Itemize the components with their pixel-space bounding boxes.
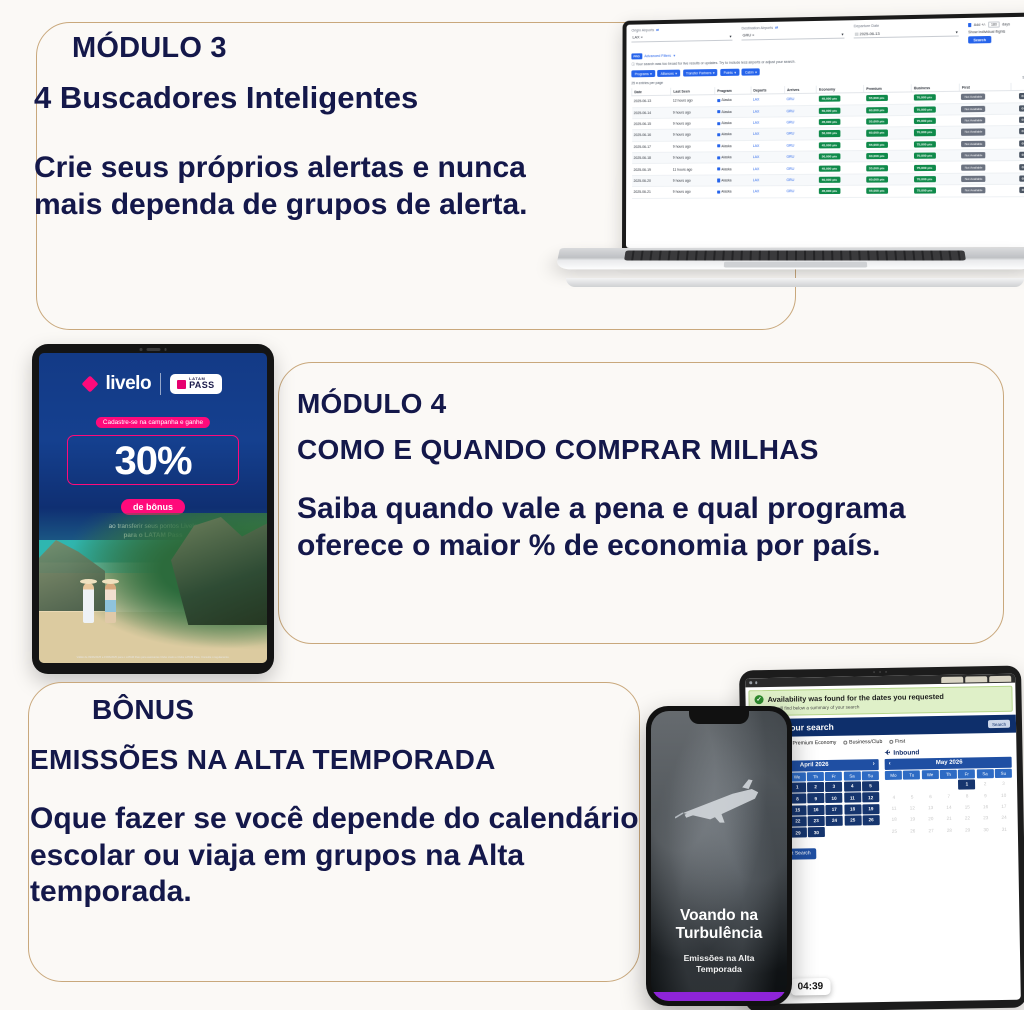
inbound-day-grid: MoTuWeThFrSaSu12345678910111213141516171… xyxy=(885,769,1013,837)
phone-mockup: Voando na Turbulência Emissões na Alta T… xyxy=(646,706,792,1006)
livelo-tablet-mockup: livelo LATAM PASS Cadastre-se na campanh… xyxy=(32,344,274,674)
row-departs: LAX xyxy=(751,117,785,129)
row-departs-value[interactable]: LAX xyxy=(753,121,760,125)
row-last-seen: 9 hours ago xyxy=(671,186,715,198)
module-3-kicker: MÓDULO 3 xyxy=(72,32,227,65)
calendar-day-available[interactable]: 9 xyxy=(807,793,824,803)
origin-airports-value: LAX × xyxy=(632,35,642,40)
row-date: 2025-06-18 xyxy=(632,152,671,164)
row-date: 2025-06-17 xyxy=(632,141,671,153)
calendar-day-unavailable[interactable]: 30 xyxy=(977,824,994,834)
row-date: 2025-06-14 xyxy=(632,107,671,119)
livelo-offer-box: 30% xyxy=(67,435,239,485)
calendar-day-unavailable[interactable]: 9 xyxy=(977,790,994,800)
row-departs: LAX xyxy=(751,186,785,198)
row-arrives: GRU xyxy=(784,139,816,151)
module-4-kicker: MÓDULO 4 xyxy=(297,388,446,420)
row-program: Alaska xyxy=(715,117,751,129)
row-business: 70,000 pts xyxy=(911,103,959,115)
cabin-option-label: Premium Economy xyxy=(792,740,836,747)
row-last-seen: 11 hours ago xyxy=(671,163,715,175)
calendar-dow: Fr xyxy=(958,769,975,778)
swap-icon[interactable]: ⇄ xyxy=(656,28,659,32)
cabin-option-premium-economy[interactable]: Premium Economy xyxy=(787,740,837,747)
airline-logo-icon xyxy=(717,99,720,102)
calendar-day-available[interactable]: 16 xyxy=(807,805,824,815)
reel-subtitle-line2: Temporada xyxy=(696,964,742,974)
calendar-day-unavailable[interactable]: 21 xyxy=(941,814,958,824)
livelo-diamond-icon xyxy=(82,376,99,393)
laptop-keyboard xyxy=(624,250,966,260)
calendar-day-unavailable[interactable]: 11 xyxy=(885,803,902,813)
calendar-day-available[interactable]: 29 xyxy=(789,828,806,838)
row-premium-value: 60,000 pts xyxy=(866,176,888,182)
row-first: Not Available xyxy=(959,161,1011,173)
per-page-label: entries per page xyxy=(639,81,663,85)
row-last-seen: 9 hours ago xyxy=(671,118,715,130)
airline-logo-icon xyxy=(717,133,720,136)
row-economy: 50,000 pts xyxy=(817,127,864,139)
row-arrives: GRU xyxy=(784,105,816,117)
gear-icon[interactable]: ⚙ xyxy=(1019,105,1024,111)
calendar-day-unavailable[interactable]: 19 xyxy=(904,814,921,824)
cabin-option-first[interactable]: First xyxy=(889,739,905,745)
chip-label: Alliances xyxy=(661,72,674,76)
program-name: Alaska xyxy=(721,144,731,148)
row-last-seen: 9 hours ago xyxy=(671,140,715,152)
calendar-day-available[interactable]: 26 xyxy=(862,815,879,825)
calendar-day-unavailable[interactable]: 25 xyxy=(886,826,903,836)
row-arrives-value[interactable]: GRU xyxy=(786,132,794,136)
row-actions[interactable]: ⚙ xyxy=(1011,137,1024,149)
beach-scene-image: Válido de 09/06/2025 a 15/06/2025 para o… xyxy=(39,513,267,663)
row-program: Alaska xyxy=(715,129,751,141)
row-last-seen: 12 hours ago xyxy=(671,95,715,107)
gear-icon[interactable]: ⚙ xyxy=(1019,128,1024,134)
row-departs-value[interactable]: LAX xyxy=(753,167,760,171)
latam-pass-text: PASS xyxy=(189,381,214,390)
chip-label: Transfer Partners xyxy=(686,71,712,75)
flight-search-app: Origin Airports ⇄ LAX × ▾ Destination Ai… xyxy=(626,17,1024,248)
row-economy: 45,000 pts xyxy=(817,185,864,197)
row-first: Not Available xyxy=(960,173,1012,185)
calendar-day-unavailable[interactable]: 28 xyxy=(941,825,958,835)
filter-chip-alliances[interactable]: Alliances▾ xyxy=(658,70,681,78)
laptop-screen: Origin Airports ⇄ LAX × ▾ Destination Ai… xyxy=(622,12,1024,252)
row-economy-value: 45,000 pts xyxy=(819,96,841,103)
gear-icon[interactable]: ⚙ xyxy=(1019,93,1024,99)
row-departs-value[interactable]: LAX xyxy=(753,155,760,159)
row-program: Alaska xyxy=(715,106,751,118)
row-business-value: 75,000 pts xyxy=(914,141,936,148)
row-business: 75,000 pts xyxy=(911,138,959,150)
gear-icon[interactable]: ⚙ xyxy=(1019,117,1024,123)
calendar-day-unavailable[interactable]: 16 xyxy=(977,802,994,812)
destination-airports-value: GRU × xyxy=(743,33,755,38)
bonus-title: EMISSÕES NA ALTA TEMPORADA xyxy=(30,744,496,776)
add-days-label: Add +/- xyxy=(974,23,986,27)
row-arrives-value[interactable]: GRU xyxy=(786,166,794,170)
calendar-day-available[interactable]: 1 xyxy=(958,779,975,789)
program-name: Alaska xyxy=(721,133,731,137)
row-last-seen: 9 hours ago xyxy=(671,129,715,141)
row-actions[interactable]: ⚙ xyxy=(1011,126,1024,138)
calendar-day-available[interactable]: 11 xyxy=(844,793,861,803)
calendar-day-unavailable[interactable]: 13 xyxy=(922,803,939,813)
row-business: 75,000 pts xyxy=(911,161,959,173)
row-arrives: GRU xyxy=(784,186,816,198)
row-last-seen: 9 hours ago xyxy=(671,175,715,187)
airplane-illustration xyxy=(675,773,771,837)
row-economy-value: 45,000 pts xyxy=(819,188,841,194)
calendar-day-unavailable[interactable]: 4 xyxy=(885,792,902,802)
calendar-dow: Tu xyxy=(903,770,920,779)
row-premium: 55,000 pts xyxy=(864,185,912,197)
calendar-day-available[interactable]: 19 xyxy=(862,804,879,814)
row-first-value: Not Available xyxy=(962,141,986,148)
row-premium: 60,000 pts xyxy=(864,104,912,116)
browser-tab[interactable] xyxy=(941,676,963,682)
calendar-day-available[interactable]: 10 xyxy=(825,793,842,803)
latam-mark-icon xyxy=(177,380,186,389)
row-business-value: 70,000 pts xyxy=(913,106,935,113)
row-first: Not Available xyxy=(959,102,1011,114)
calendar-day-unavailable[interactable]: 31 xyxy=(996,824,1013,834)
program-name: Alaska xyxy=(721,190,731,194)
airline-logo-icon xyxy=(717,156,720,159)
calendar-day-available[interactable]: 23 xyxy=(808,816,825,826)
chevron-down-icon[interactable]: ▾ xyxy=(841,31,843,36)
livelo-brand-name: livelo xyxy=(105,373,151,395)
row-date: 2025-06-16 xyxy=(632,130,671,142)
row-departs: LAX xyxy=(751,128,785,140)
calendar-dow: Mo xyxy=(885,771,902,780)
filter-chip-cabin[interactable]: Cabin▾ xyxy=(742,69,760,77)
row-first: Not Available xyxy=(959,91,1011,103)
row-first: Not Available xyxy=(959,114,1011,126)
calendar-day-unavailable[interactable]: 3 xyxy=(995,778,1012,788)
row-premium-value: 55,000 pts xyxy=(866,141,888,148)
calendar-day-unavailable[interactable]: 10 xyxy=(995,790,1012,800)
airline-logo-icon xyxy=(717,145,720,148)
calendar-blank xyxy=(903,780,920,790)
row-date: 2025-06-20 xyxy=(632,175,671,187)
row-departs-value[interactable]: LAX xyxy=(753,178,760,182)
browser-tab[interactable] xyxy=(965,676,987,682)
gear-icon[interactable]: ⚙ xyxy=(1019,164,1024,170)
row-first: Not Available xyxy=(959,149,1011,161)
calendar-dow: Fr xyxy=(825,772,842,781)
entries-per-page[interactable]: 25 ▾ entries per page xyxy=(631,81,663,85)
row-business-value: 75,000 pts xyxy=(914,164,936,170)
row-arrives: GRU xyxy=(784,163,816,175)
inbound-heading-row: ✈ Inbound xyxy=(884,747,1011,757)
program-name: Alaska xyxy=(721,167,731,171)
reel-progress-bar[interactable] xyxy=(651,992,787,1001)
row-departs-value[interactable]: LAX xyxy=(753,109,760,113)
row-departs: LAX xyxy=(751,140,785,152)
row-first-value: Not Available xyxy=(962,187,986,193)
airline-logo-icon xyxy=(717,167,720,170)
calendar-day-available[interactable]: 12 xyxy=(862,792,879,802)
row-economy-value: 50,000 pts xyxy=(819,107,841,114)
calendar-dow: Th xyxy=(807,772,824,781)
calendar-day-available[interactable]: 4 xyxy=(844,781,861,791)
calendar-day-unavailable[interactable]: 26 xyxy=(904,826,921,836)
chevron-left-icon[interactable]: ‹ xyxy=(889,761,891,767)
row-economy-value: 45,000 pts xyxy=(819,142,841,148)
row-departs-value[interactable]: LAX xyxy=(753,190,760,194)
row-economy: 45,000 pts xyxy=(817,162,864,174)
info-icon: ⓘ xyxy=(631,63,634,67)
row-departs: LAX xyxy=(751,94,785,106)
cabin-option-label: First xyxy=(895,739,905,745)
sun-hat-icon xyxy=(102,579,119,584)
row-arrives-value[interactable]: GRU xyxy=(786,143,794,147)
filter-chip-points[interactable]: Points▾ xyxy=(720,69,739,77)
row-actions[interactable]: ⚙ xyxy=(1011,90,1024,102)
row-premium-value: 55,000 pts xyxy=(866,165,888,171)
row-departs-value[interactable]: LAX xyxy=(753,132,760,136)
row-actions[interactable]: ⚙ xyxy=(1012,184,1024,196)
gear-icon[interactable]: ⚙ xyxy=(1019,140,1024,146)
calendar-day-unavailable[interactable]: 17 xyxy=(995,801,1012,811)
add-days-checkbox-row[interactable]: Add +/- 180 days xyxy=(968,21,1024,28)
row-actions[interactable]: ⚙ xyxy=(1012,149,1024,161)
calendar-day-unavailable[interactable]: 12 xyxy=(904,803,921,813)
row-economy-value: 50,000 pts xyxy=(819,130,841,136)
row-economy: 50,000 pts xyxy=(817,151,864,163)
row-premium-value: 60,000 pts xyxy=(866,130,888,137)
row-arrives-value[interactable]: GRU xyxy=(786,178,794,182)
tablet-camera-dots xyxy=(873,671,887,673)
row-arrives: GRU xyxy=(784,93,816,105)
origin-airports-label: Origin Airports xyxy=(631,28,654,32)
radio-icon[interactable] xyxy=(843,741,847,745)
row-economy: 45,000 pts xyxy=(817,93,864,105)
livelo-legal-text: Válido de 09/06/2025 a 15/06/2025 para o… xyxy=(39,656,267,659)
row-arrives-value[interactable]: GRU xyxy=(786,155,794,159)
row-business-value: 70,000 pts xyxy=(914,176,936,182)
calendar-day-unavailable[interactable]: 14 xyxy=(940,802,957,812)
calendar-day-available[interactable]: 3 xyxy=(825,781,842,791)
row-business-value: 75,000 pts xyxy=(914,188,936,194)
airline-logo-icon xyxy=(717,179,720,182)
row-economy: 50,000 pts xyxy=(817,104,864,116)
departure-date-value: 2025-06-13 xyxy=(860,31,880,35)
row-departs: LAX xyxy=(751,151,785,163)
search-notice-text: Your search was too broad for live resul… xyxy=(636,60,796,67)
add-days-select[interactable]: 180 xyxy=(988,21,1000,27)
chevron-down-icon: ▾ xyxy=(650,72,652,76)
inbound-month-bar: ‹ May 2026 xyxy=(885,757,1012,770)
calendar-icon: ▤ xyxy=(855,32,859,36)
row-first-value: Not Available xyxy=(962,152,986,159)
row-business-value: 75,000 pts xyxy=(913,118,935,125)
row-actions[interactable]: ⚙ xyxy=(1012,173,1024,185)
calendar-day-unavailable[interactable]: 29 xyxy=(959,825,976,835)
plane-icon: ✈ xyxy=(884,749,890,757)
row-business: 70,000 pts xyxy=(911,173,959,185)
reel-title-line2: Turbulência xyxy=(676,925,763,942)
row-premium: 55,000 pts xyxy=(864,92,912,104)
row-departs: LAX xyxy=(751,174,785,186)
calendar-day-unavailable[interactable]: 6 xyxy=(922,791,939,801)
row-departs-value[interactable]: LAX xyxy=(753,98,760,102)
calendar-day-available[interactable]: 17 xyxy=(826,804,843,814)
latam-pass-logo: LATAM PASS xyxy=(170,374,221,394)
row-premium: 55,000 pts xyxy=(864,115,912,127)
availability-alert: ✓ Availability was found for the dates y… xyxy=(748,686,1012,717)
row-economy: 50,000 pts xyxy=(817,174,864,186)
row-actions[interactable]: ⚙ xyxy=(1011,114,1024,126)
chevron-down-icon[interactable]: ▾ xyxy=(956,29,958,34)
departure-date-field[interactable]: Departure Date ▤ 2025-06-13 ▾ xyxy=(854,22,959,38)
chip-label: Programs xyxy=(635,72,649,76)
row-first-value: Not Available xyxy=(962,176,986,183)
row-first-value: Not Available xyxy=(962,129,986,136)
calendar-day-available[interactable]: 2 xyxy=(807,782,824,792)
module-3-title: 4 Buscadores Inteligentes xyxy=(34,80,418,116)
row-premium-value: 60,000 pts xyxy=(866,153,888,159)
promo-graphic: MÓDULO 3 4 Buscadores Inteligentes Crie … xyxy=(0,0,1024,1010)
row-first-value: Not Available xyxy=(961,117,985,124)
row-arrives-value[interactable]: GRU xyxy=(786,109,794,113)
row-first-value: Not Available xyxy=(961,105,985,112)
calendar-day-unavailable[interactable]: 20 xyxy=(922,814,939,824)
row-economy: 45,000 pts xyxy=(817,139,864,151)
calendar-day-unavailable[interactable]: 24 xyxy=(995,813,1012,823)
inbound-month: May 2026 xyxy=(936,760,963,766)
check-icon: ✓ xyxy=(754,695,763,704)
row-first-value: Not Available xyxy=(961,94,985,101)
filter-chip-transfer-partners[interactable]: Transfer Partners▾ xyxy=(683,69,718,77)
row-program: Alaska xyxy=(715,186,751,198)
chevron-down-icon: ▾ xyxy=(755,70,757,74)
row-last-seen: 9 hours ago xyxy=(671,106,715,118)
search-button[interactable]: Search xyxy=(968,36,991,44)
cabin-option-label: Business/Club xyxy=(849,739,882,746)
browser-chrome-bar xyxy=(745,674,1015,688)
row-actions[interactable]: ⚙ xyxy=(1011,102,1024,114)
show-individual-flights-label[interactable]: Show individual flights xyxy=(968,28,1024,33)
availability-alert-sub: You will find below a summary of your se… xyxy=(768,703,944,711)
row-departs: LAX xyxy=(751,163,785,175)
reel-title: Voando na Turbulência xyxy=(651,907,787,942)
row-premium: 60,000 pts xyxy=(864,127,912,139)
airline-logo-icon xyxy=(717,122,720,125)
radio-icon[interactable] xyxy=(889,740,893,744)
laptop-trackpad xyxy=(723,262,867,268)
calendar-blank xyxy=(885,780,902,790)
gear-icon[interactable]: ⚙ xyxy=(1019,152,1024,158)
chevron-down-icon[interactable]: ▾ xyxy=(730,33,732,38)
row-program: Alaska xyxy=(715,140,751,152)
row-arrives-value[interactable]: GRU xyxy=(786,189,794,193)
chevron-down-icon[interactable]: ▾ xyxy=(673,54,675,58)
results-table-body: 2025-06-1312 hours agoAlaskaLAXGRU45,000… xyxy=(632,90,1024,198)
swap-icon[interactable]: ⇄ xyxy=(775,26,778,30)
module-4-body: Saiba quando vale a pena e qual programa… xyxy=(297,491,937,564)
chevron-right-icon[interactable]: › xyxy=(873,762,875,768)
chevron-down-icon: ▾ xyxy=(734,71,736,75)
calendar-day-available[interactable]: 18 xyxy=(844,804,861,814)
advanced-filters-link[interactable]: Advanced Filters xyxy=(644,54,671,58)
calendar-day-unavailable[interactable]: 23 xyxy=(977,813,994,823)
table-row[interactable]: 2025-06-219 hours agoAlaskaLAXGRU45,000 … xyxy=(632,184,1024,198)
row-arrives-value[interactable]: GRU xyxy=(786,97,794,101)
gear-icon[interactable]: ⚙ xyxy=(1019,175,1024,181)
gear-icon[interactable]: ⚙ xyxy=(1019,187,1024,193)
row-departs: LAX xyxy=(751,105,785,117)
row-business: 75,000 pts xyxy=(911,115,959,127)
row-arrives: GRU xyxy=(784,116,816,128)
calendar-day-unavailable[interactable]: 7 xyxy=(940,791,957,801)
filter-chip-programs[interactable]: Programs▾ xyxy=(631,70,655,78)
row-arrives-value[interactable]: GRU xyxy=(786,120,794,124)
calendar-day-unavailable[interactable]: 18 xyxy=(886,815,903,825)
program-name: Alaska xyxy=(721,110,731,114)
row-business-value: 70,000 pts xyxy=(914,153,936,160)
row-departs-value[interactable]: LAX xyxy=(753,144,760,148)
row-economy-value: 50,000 pts xyxy=(819,153,841,159)
add-days-checkbox[interactable] xyxy=(968,23,972,27)
calendar-dow: Su xyxy=(862,771,879,780)
chevron-down-icon: ▾ xyxy=(713,71,715,75)
calendar-day-available[interactable]: 5 xyxy=(862,781,879,791)
row-business-value: 70,000 pts xyxy=(913,129,935,136)
row-actions[interactable]: ⚙ xyxy=(1012,161,1024,173)
calendar-day-available[interactable]: 25 xyxy=(844,815,861,825)
module-3-body: Crie seus próprios alertas e nunca mais … xyxy=(34,150,594,223)
calendar-day-unavailable[interactable]: 8 xyxy=(958,791,975,801)
row-program: Alaska xyxy=(715,163,751,175)
calendar-day-unavailable[interactable]: 27 xyxy=(922,825,939,835)
row-arrives: GRU xyxy=(784,174,816,186)
livelo-logo-row: livelo LATAM PASS xyxy=(39,373,267,395)
row-economy-value: 50,000 pts xyxy=(819,177,841,183)
livelo-ad-screen: livelo LATAM PASS Cadastre-se na campanh… xyxy=(39,353,267,663)
row-date: 2025-06-21 xyxy=(632,186,671,198)
cliff-shape-2 xyxy=(39,537,105,611)
livelo-percent: 30% xyxy=(68,442,238,480)
calendar-day-unavailable[interactable]: 15 xyxy=(959,802,976,812)
calendar-blank xyxy=(922,780,939,790)
calendar-day-unavailable[interactable]: 5 xyxy=(903,791,920,801)
person-figure-1 xyxy=(83,583,94,623)
origin-airports-field[interactable]: Origin Airports ⇄ LAX × ▾ xyxy=(631,27,732,43)
row-premium: 60,000 pts xyxy=(864,173,912,185)
module-4-title: COMO E QUANDO COMPRAR MILHAS xyxy=(297,434,819,466)
calendar-day-available[interactable]: 30 xyxy=(808,827,825,837)
row-program: Alaska xyxy=(715,152,751,164)
cabin-option-business-club[interactable]: Business/Club xyxy=(843,739,882,746)
panel-search-button[interactable]: Search xyxy=(988,720,1010,729)
availability-alert-title: Availability was found for the dates you… xyxy=(767,692,943,704)
row-first: Not Available xyxy=(960,185,1012,197)
row-first-value: Not Available xyxy=(962,164,986,171)
logo-divider xyxy=(160,373,161,395)
calendar-day-available[interactable]: 24 xyxy=(826,816,843,826)
browser-tabs[interactable] xyxy=(941,675,1011,682)
cliff-shape xyxy=(171,517,267,625)
calendar-day-unavailable[interactable]: 22 xyxy=(959,813,976,823)
browser-tab[interactable] xyxy=(989,675,1011,681)
pro-badge: PRO xyxy=(631,53,641,59)
destination-airports-field[interactable]: Destination Airports ⇄ GRU × ▾ xyxy=(742,24,845,40)
row-business: 75,000 pts xyxy=(911,185,959,197)
calendar-day-unavailable[interactable]: 2 xyxy=(977,779,994,789)
